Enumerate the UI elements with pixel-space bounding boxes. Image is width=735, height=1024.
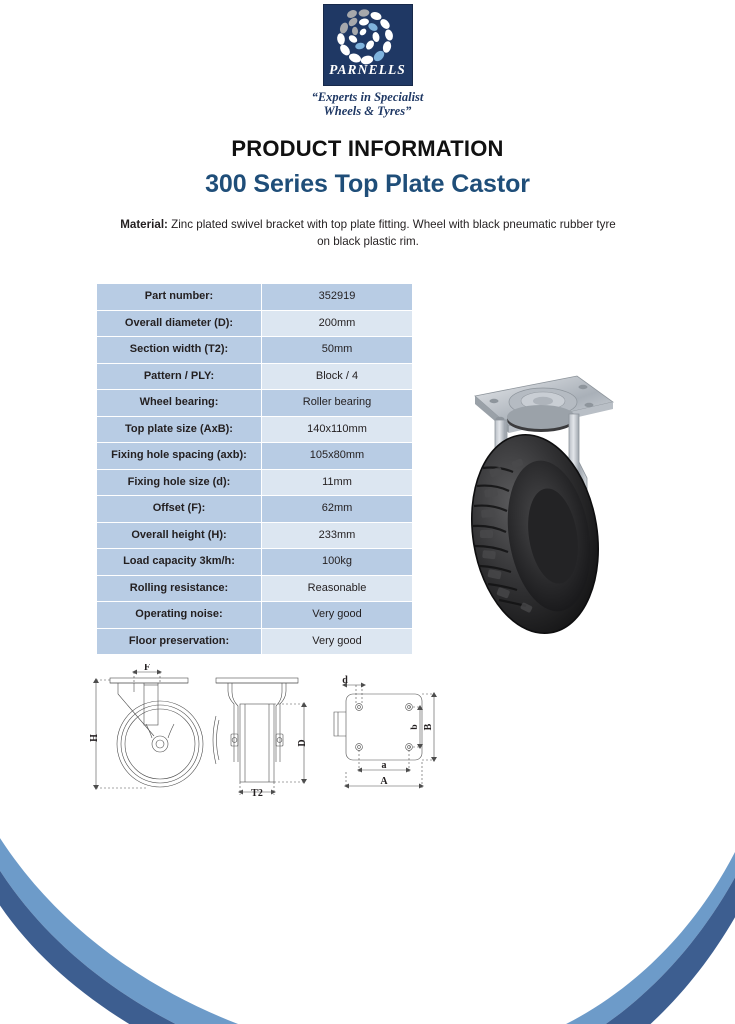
spec-value: Very good: [262, 628, 413, 655]
pneumatic-tyre: [458, 426, 612, 643]
document-type-heading: PRODUCT INFORMATION: [0, 136, 735, 162]
brand-tagline: “Experts in Specialist Wheels & Tyres”: [312, 90, 424, 118]
dim-label-F: F: [144, 664, 150, 673]
spec-label: Pattern / PLY:: [97, 363, 262, 390]
footer-decorative-swoosh: [0, 764, 735, 1024]
spec-value: Block / 4: [262, 363, 413, 390]
spec-value: Reasonable: [262, 575, 413, 602]
table-row: Overall height (H):233mm: [97, 522, 413, 549]
spec-label: Wheel bearing:: [97, 390, 262, 417]
logo-wordmark: PARNELLS: [324, 62, 412, 78]
brand-tagline-line2: Wheels & Tyres”: [312, 104, 424, 118]
brand-logo-block: PARNELLS “Experts in Specialist Wheels &…: [0, 4, 735, 118]
swivel-raceway: [507, 405, 575, 432]
spec-value: Roller bearing: [262, 390, 413, 417]
dim-label-d: d: [342, 675, 348, 686]
spec-label: Rolling resistance:: [97, 575, 262, 602]
dim-label-H: H: [89, 734, 100, 742]
spec-label: Load capacity 3km/h:: [97, 549, 262, 576]
spec-value: 105x80mm: [262, 443, 413, 470]
table-row: Fixing hole spacing (axb):105x80mm: [97, 443, 413, 470]
brand-tagline-line1: “Experts in Specialist: [312, 90, 424, 104]
spec-value: 200mm: [262, 310, 413, 337]
table-row: Fixing hole size (d):11mm: [97, 469, 413, 496]
spec-label: Floor preservation:: [97, 628, 262, 655]
material-description: Material: Zinc plated swivel bracket wit…: [118, 216, 618, 250]
table-row: Top plate size (AxB):140x110mm: [97, 416, 413, 443]
product-photo: [437, 358, 647, 648]
spec-label: Fixing hole spacing (axb):: [97, 443, 262, 470]
spec-label: Overall height (H):: [97, 522, 262, 549]
spec-label: Overall diameter (D):: [97, 310, 262, 337]
dim-label-D: D: [297, 739, 308, 746]
specification-table: Part number:352919Overall diameter (D):2…: [96, 283, 413, 655]
spec-value: 11mm: [262, 469, 413, 496]
table-row: Floor preservation:Very good: [97, 628, 413, 655]
table-row: Operating noise:Very good: [97, 602, 413, 629]
spec-label: Operating noise:: [97, 602, 262, 629]
dim-label-b: b: [410, 724, 420, 729]
spec-value: 352919: [262, 284, 413, 311]
table-row: Overall diameter (D):200mm: [97, 310, 413, 337]
page-title: 300 Series Top Plate Castor: [0, 170, 735, 199]
spec-value: 50mm: [262, 337, 413, 364]
parnells-logo-mark: PARNELLS: [323, 4, 413, 86]
dim-label-B: B: [423, 723, 434, 730]
spec-value: 233mm: [262, 522, 413, 549]
spec-label: Top plate size (AxB):: [97, 416, 262, 443]
spec-label: Part number:: [97, 284, 262, 311]
spec-value: Very good: [262, 602, 413, 629]
table-row: Rolling resistance:Reasonable: [97, 575, 413, 602]
spec-value: 62mm: [262, 496, 413, 523]
material-label: Material:: [120, 218, 168, 231]
spec-label: Section width (T2):: [97, 337, 262, 364]
table-row: Section width (T2):50mm: [97, 337, 413, 364]
material-text: Zinc plated swivel bracket with top plat…: [168, 218, 616, 248]
table-row: Part number:352919: [97, 284, 413, 311]
table-row: Offset (F):62mm: [97, 496, 413, 523]
specification-table-body: Part number:352919Overall diameter (D):2…: [97, 284, 413, 655]
table-row: Load capacity 3km/h:100kg: [97, 549, 413, 576]
spec-label: Fixing hole size (d):: [97, 469, 262, 496]
spec-label: Offset (F):: [97, 496, 262, 523]
table-row: Pattern / PLY:Block / 4: [97, 363, 413, 390]
spec-value: 100kg: [262, 549, 413, 576]
spec-value: 140x110mm: [262, 416, 413, 443]
table-row: Wheel bearing:Roller bearing: [97, 390, 413, 417]
